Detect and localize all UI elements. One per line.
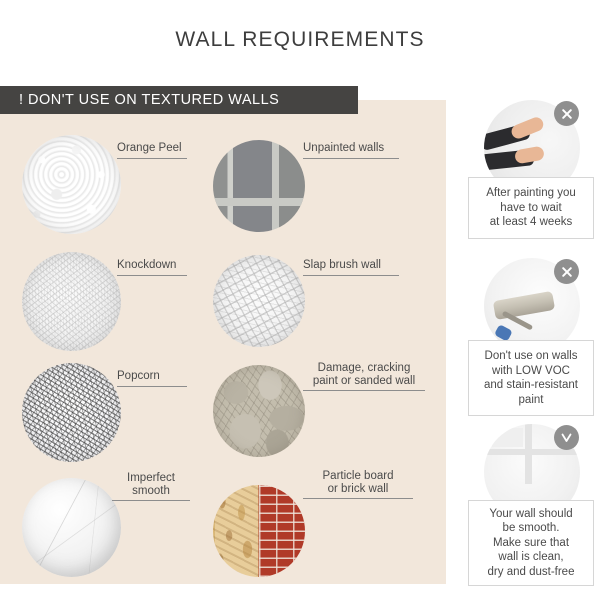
- x-icon: [554, 101, 579, 126]
- requirement-card-text-3: Your wall should be smooth. Make sure th…: [468, 500, 594, 586]
- hand-shape-lower: [514, 146, 545, 165]
- texture-label-damaged-wall: Damage, cracking paint or sanded wall: [303, 362, 425, 391]
- requirement-card-text-2: Don't use on walls with LOW VOC and stai…: [468, 340, 594, 416]
- texture-label-slap-brush: Slap brush wall: [303, 259, 399, 276]
- requirement-card-text-1: After painting you have to wait at least…: [468, 177, 594, 239]
- requirement-card-smooth-wall: Your wall should be smooth. Make sure th…: [0, 0, 96, 96]
- texture-label-imperfect-smooth: Imperfect smooth: [112, 472, 190, 501]
- check-icon: [554, 425, 579, 450]
- texture-label-popcorn: Popcorn: [117, 370, 187, 387]
- texture-label-orange-peel: Orange Peel: [117, 142, 187, 159]
- hand-shape-upper: [509, 116, 545, 142]
- texture-label-knockdown: Knockdown: [117, 259, 187, 276]
- slap-brush-texture-swatch: [213, 255, 305, 347]
- orange-peel-texture-swatch: [22, 135, 121, 234]
- window-pane-shape: [492, 428, 524, 447]
- damaged-wall-photo-swatch: [213, 365, 305, 457]
- texture-label-particle-board-brick: Particle board or brick wall: [303, 470, 413, 499]
- infographic-root: WALL REQUIREMENTS ! DON'T USE ON TEXTURE…: [0, 0, 600, 600]
- particle-board-brick-photo-swatch: [213, 485, 305, 577]
- roller-body-shape: [492, 291, 554, 320]
- knockdown-texture-swatch: [22, 252, 121, 351]
- popcorn-texture-swatch: [22, 363, 121, 462]
- x-icon: [554, 259, 579, 284]
- unpainted-wall-photo-swatch: [213, 140, 305, 232]
- texture-label-unpainted-walls: Unpainted walls: [303, 142, 399, 159]
- imperfect-smooth-texture-swatch: [22, 478, 121, 577]
- roller-grip-shape: [494, 324, 513, 341]
